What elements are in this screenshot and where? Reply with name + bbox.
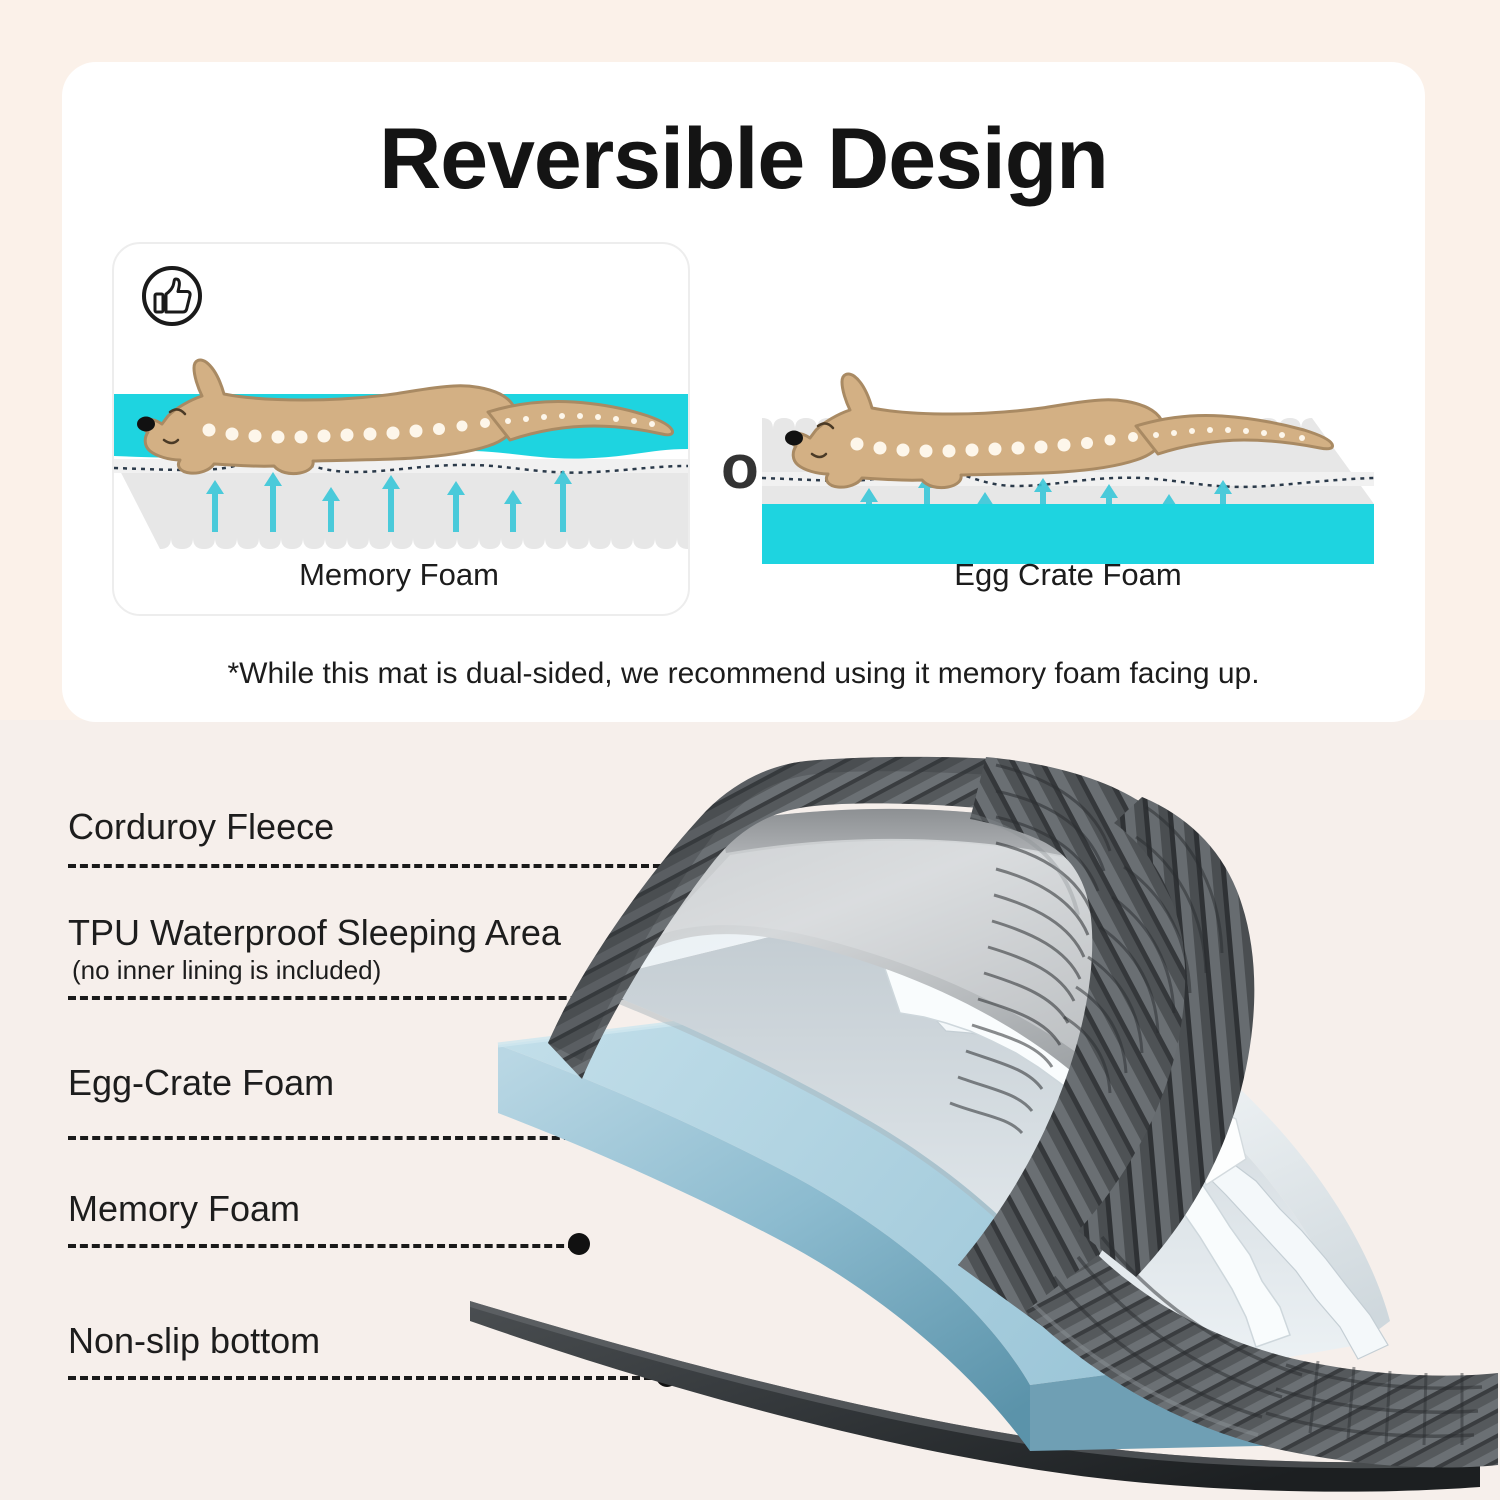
right-caption: Egg Crate Foam [762,557,1374,593]
layer-label-corduroy-fleece: Corduroy Fleece [68,806,334,848]
reversible-design-card: Reversible Design [62,62,1425,722]
layer-label-non-slip-bottom: Non-slip bottom [68,1320,320,1362]
layer-label-egg-crate-foam: Egg-Crate Foam [68,1062,334,1104]
thumbs-up-icon [140,264,204,328]
footnote-text: *While this mat is dual-sided, we recomm… [62,657,1425,691]
layer-label-memory-foam: Memory Foam [68,1188,300,1230]
left-caption: Memory Foam [112,557,686,593]
page-title: Reversible Design [62,110,1425,209]
exploded-product-illustration [430,745,1500,1500]
layer-sublabel-tpu-waterproof: (no inner lining is included) [72,955,381,986]
